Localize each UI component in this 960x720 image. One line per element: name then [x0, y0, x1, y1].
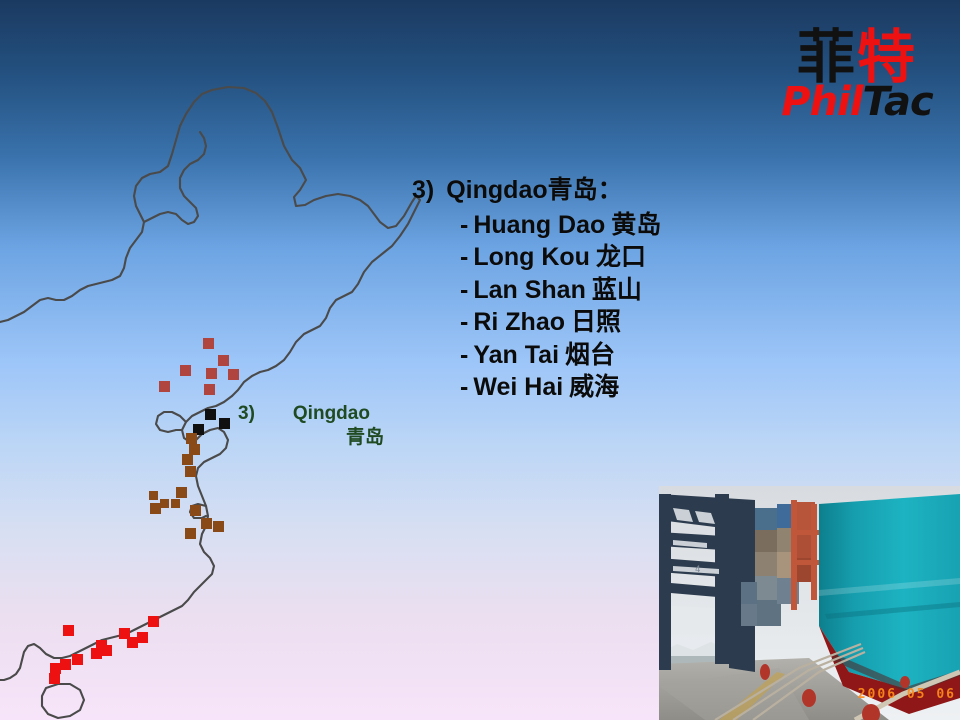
- port-marker: [159, 381, 170, 392]
- port-marker: [185, 528, 196, 539]
- item-dash: -: [460, 243, 468, 271]
- heading-name: Qingdao: [446, 176, 547, 204]
- port-marker: [176, 487, 187, 498]
- port-marker: [171, 499, 180, 508]
- map-callout-number: 3): [238, 402, 255, 426]
- list-item: -Long Kou龙口: [460, 241, 732, 274]
- port-marker: [228, 369, 239, 380]
- item-dash: -: [460, 373, 468, 401]
- logo-latin-red: Phil: [781, 79, 862, 125]
- port-marker: [160, 499, 169, 508]
- list-item: -Wei Hai威海: [460, 371, 732, 404]
- logo-latin-black: Tac: [862, 79, 932, 125]
- item-cjk: 威海: [569, 372, 619, 401]
- port-marker: [119, 628, 130, 639]
- item-dash: -: [460, 276, 468, 304]
- port-marker: [149, 491, 158, 500]
- map-outline-path: [0, 87, 420, 396]
- item-name: Wei Hai: [473, 373, 563, 401]
- port-marker: [213, 521, 224, 532]
- port-marker: [60, 659, 71, 670]
- slide-canvas: 3) Qingdao 青岛 3)Qingdao青岛： -Huang Dao黄岛 …: [0, 0, 960, 720]
- item-name: Yan Tai: [473, 341, 559, 369]
- marker-group-bohai: [159, 338, 239, 395]
- photo-crane-number: 4: [695, 565, 700, 575]
- item-name: Huang Dao: [473, 211, 605, 239]
- port-marker: [206, 368, 217, 379]
- port-marker: [205, 409, 216, 420]
- port-list-block: 3)Qingdao青岛： -Huang Dao黄岛 -Long Kou龙口 -L…: [412, 176, 732, 404]
- port-marker: [204, 384, 215, 395]
- port-marker: [72, 654, 83, 665]
- heading-cjk: 青岛: [548, 176, 598, 204]
- port-marker: [190, 505, 201, 516]
- list-item: -Huang Dao黄岛: [460, 209, 732, 242]
- port-marker: [49, 673, 60, 684]
- philtac-logo: 菲特 PhilTac: [772, 28, 942, 138]
- list-item: -Yan Tai烟台: [460, 339, 732, 372]
- port-marker: [203, 338, 214, 349]
- port-marker: [180, 365, 191, 376]
- port-marker: [137, 632, 148, 643]
- item-cjk: 黄岛: [611, 210, 661, 239]
- map-callout-cjk: 青岛: [238, 426, 398, 450]
- port-marker: [182, 454, 193, 465]
- item-cjk: 龙口: [596, 242, 646, 271]
- port-marker: [91, 648, 102, 659]
- china-coastline-map: [0, 0, 430, 720]
- heading-colon: ：: [598, 176, 623, 204]
- item-name: Lan Shan: [473, 276, 586, 304]
- heading-number: 3): [412, 176, 434, 204]
- item-dash: -: [460, 341, 468, 369]
- port-marker: [189, 444, 200, 455]
- list-item: -Ri Zhao日照: [460, 306, 732, 339]
- map-callout-name: Qingdao: [293, 402, 370, 426]
- port-marker: [186, 433, 197, 444]
- photo-timestamp: 2006 05 06: [858, 687, 956, 702]
- port-list: -Huang Dao黄岛 -Long Kou龙口 -Lan Shan蓝山 -Ri…: [412, 209, 732, 404]
- item-name: Ri Zhao: [473, 308, 565, 336]
- item-cjk: 烟台: [565, 340, 615, 369]
- port-marker: [185, 466, 196, 477]
- logo-latin: PhilTac: [772, 82, 942, 122]
- list-item: -Lan Shan蓝山: [460, 274, 732, 307]
- logo-cjk: 菲特: [772, 28, 942, 86]
- port-marker: [150, 503, 161, 514]
- marker-group-yangtze: [149, 433, 224, 539]
- port-marker: [63, 625, 74, 636]
- port-list-heading: 3)Qingdao青岛：: [412, 176, 732, 206]
- port-marker: [50, 663, 61, 674]
- item-cjk: 蓝山: [592, 275, 642, 304]
- port-marker: [219, 418, 230, 429]
- port-marker: [201, 518, 212, 529]
- item-cjk: 日照: [571, 307, 621, 336]
- item-dash: -: [460, 308, 468, 336]
- port-marker: [218, 355, 229, 366]
- map-callout-qingdao: 3) Qingdao 青岛: [238, 402, 398, 450]
- port-ship-photo: 4: [659, 486, 960, 720]
- item-dash: -: [460, 211, 468, 239]
- item-name: Long Kou: [473, 243, 590, 271]
- port-marker: [148, 616, 159, 627]
